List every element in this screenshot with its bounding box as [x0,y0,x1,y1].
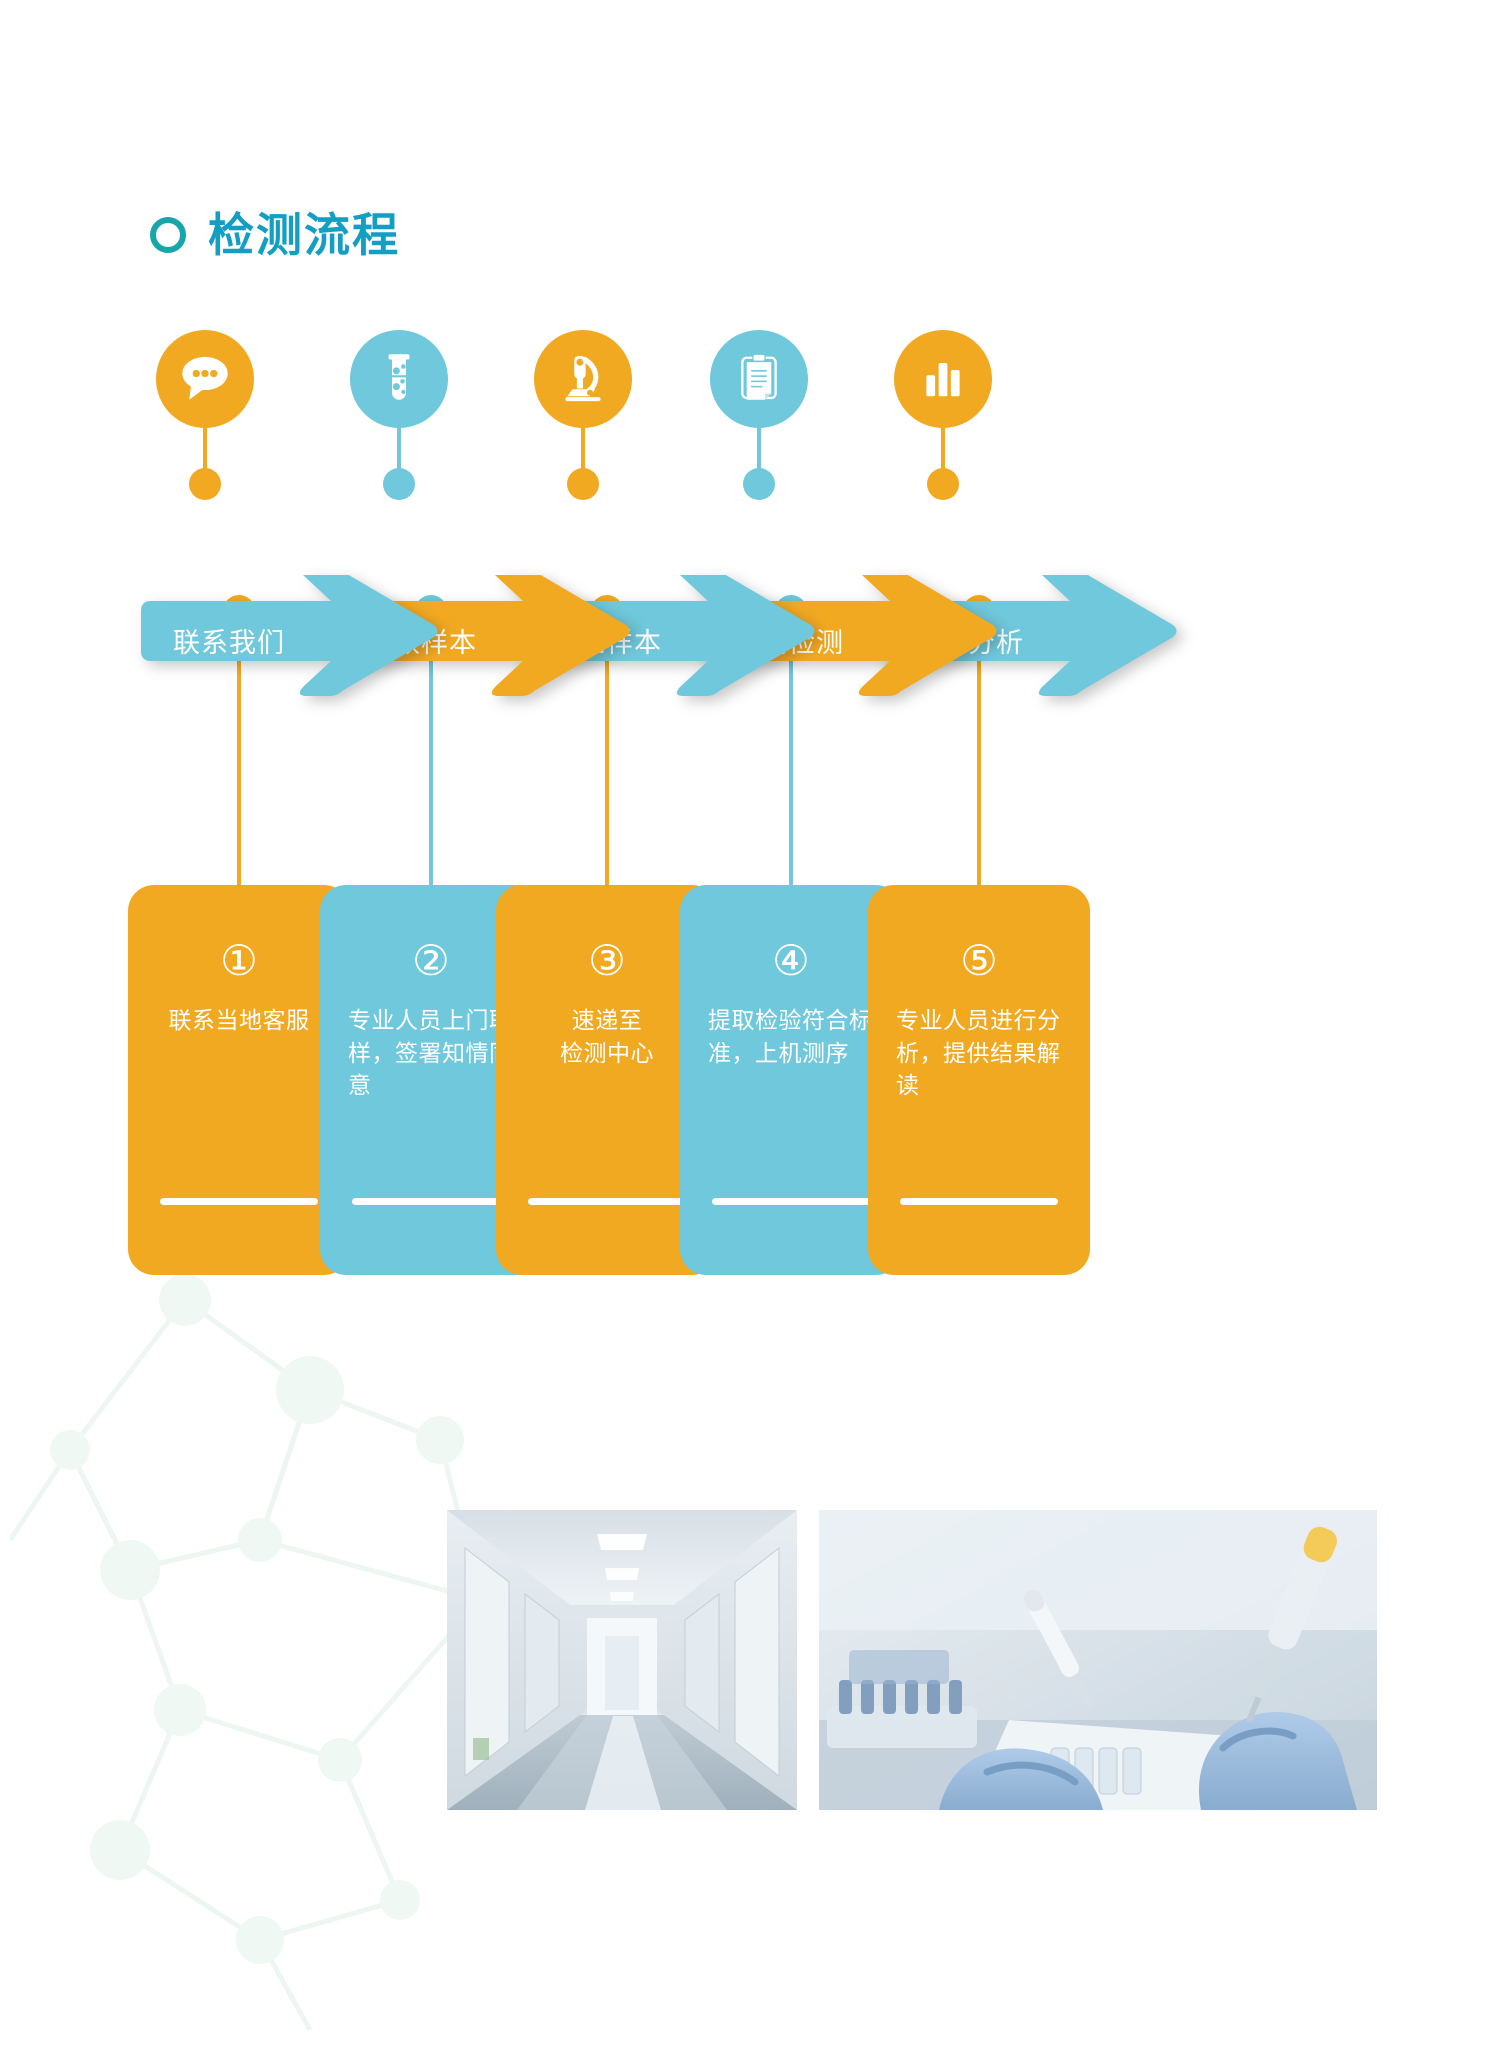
ring-icon [150,217,186,253]
connector-stem-top-3 [581,426,585,474]
step-icon-circle-2 [350,330,448,428]
step-card-text-3: 速递至检测中心 [524,1004,690,1069]
connector-dot-top-5 [927,468,959,500]
step-icon-circle-4 [710,330,808,428]
step-number-5: ⑤ [896,940,1062,982]
step-number-2: ② [348,940,514,982]
process-arrow-band: 联系我们收取样本速递样本完成检测报告分析 [0,575,1509,700]
lab-pipetting-photo [819,1510,1377,1810]
icon-row [0,330,1509,450]
step-card-rule-5 [900,1198,1058,1205]
step-card-text-5: 专业人员进行分析，提供结果解读 [896,1004,1062,1102]
step-card-text-4: 提取检验符合标准，上机测序 [708,1004,874,1069]
process-arrow-label-1: 联系我们 [173,621,285,660]
step-card-rule-3 [528,1198,686,1205]
page-title: 检测流程 [208,212,400,258]
step-card-row: ①联系当地客服②专业人员上门取样，签署知情同意③速递至检测中心④提取检验符合标准… [0,885,1509,1305]
step-card-rule-1 [160,1198,318,1205]
connector-dot-top-1 [189,468,221,500]
connector-dot-top-3 [567,468,599,500]
chat-bubble-icon [177,349,233,410]
step-icon-circle-3 [534,330,632,428]
process-arrow-1[interactable]: 联系我们 [133,575,451,700]
step-card-rule-4 [712,1198,870,1205]
test-tube-icon [371,349,427,410]
step-icon-circle-1 [156,330,254,428]
connector-stem-top-1 [203,426,207,474]
connector-stem-top-2 [397,426,401,474]
connector-dot-top-4 [743,468,775,500]
connector-stem-top-4 [757,426,761,474]
connector-dot-top-2 [383,468,415,500]
bar-chart-icon [915,349,971,410]
connector-stem-top-5 [941,426,945,474]
step-icon-circle-5 [894,330,992,428]
step-card-text-2: 专业人员上门取样，签署知情同意 [348,1004,514,1102]
step-card-5[interactable]: ⑤专业人员进行分析，提供结果解读 [868,885,1090,1275]
step-number-3: ③ [524,940,690,982]
step-card-text-1: 联系当地客服 [156,1004,322,1037]
step-number-4: ④ [708,940,874,982]
page-header: 检测流程 [150,212,400,258]
step-card-rule-2 [352,1198,510,1205]
step-card-1[interactable]: ①联系当地客服 [128,885,350,1275]
step-number-1: ① [156,940,322,982]
microscope-icon [555,349,611,410]
photo-strip [447,1510,1377,1810]
hospital-corridor-photo [447,1510,797,1810]
clipboard-icon [731,349,787,410]
